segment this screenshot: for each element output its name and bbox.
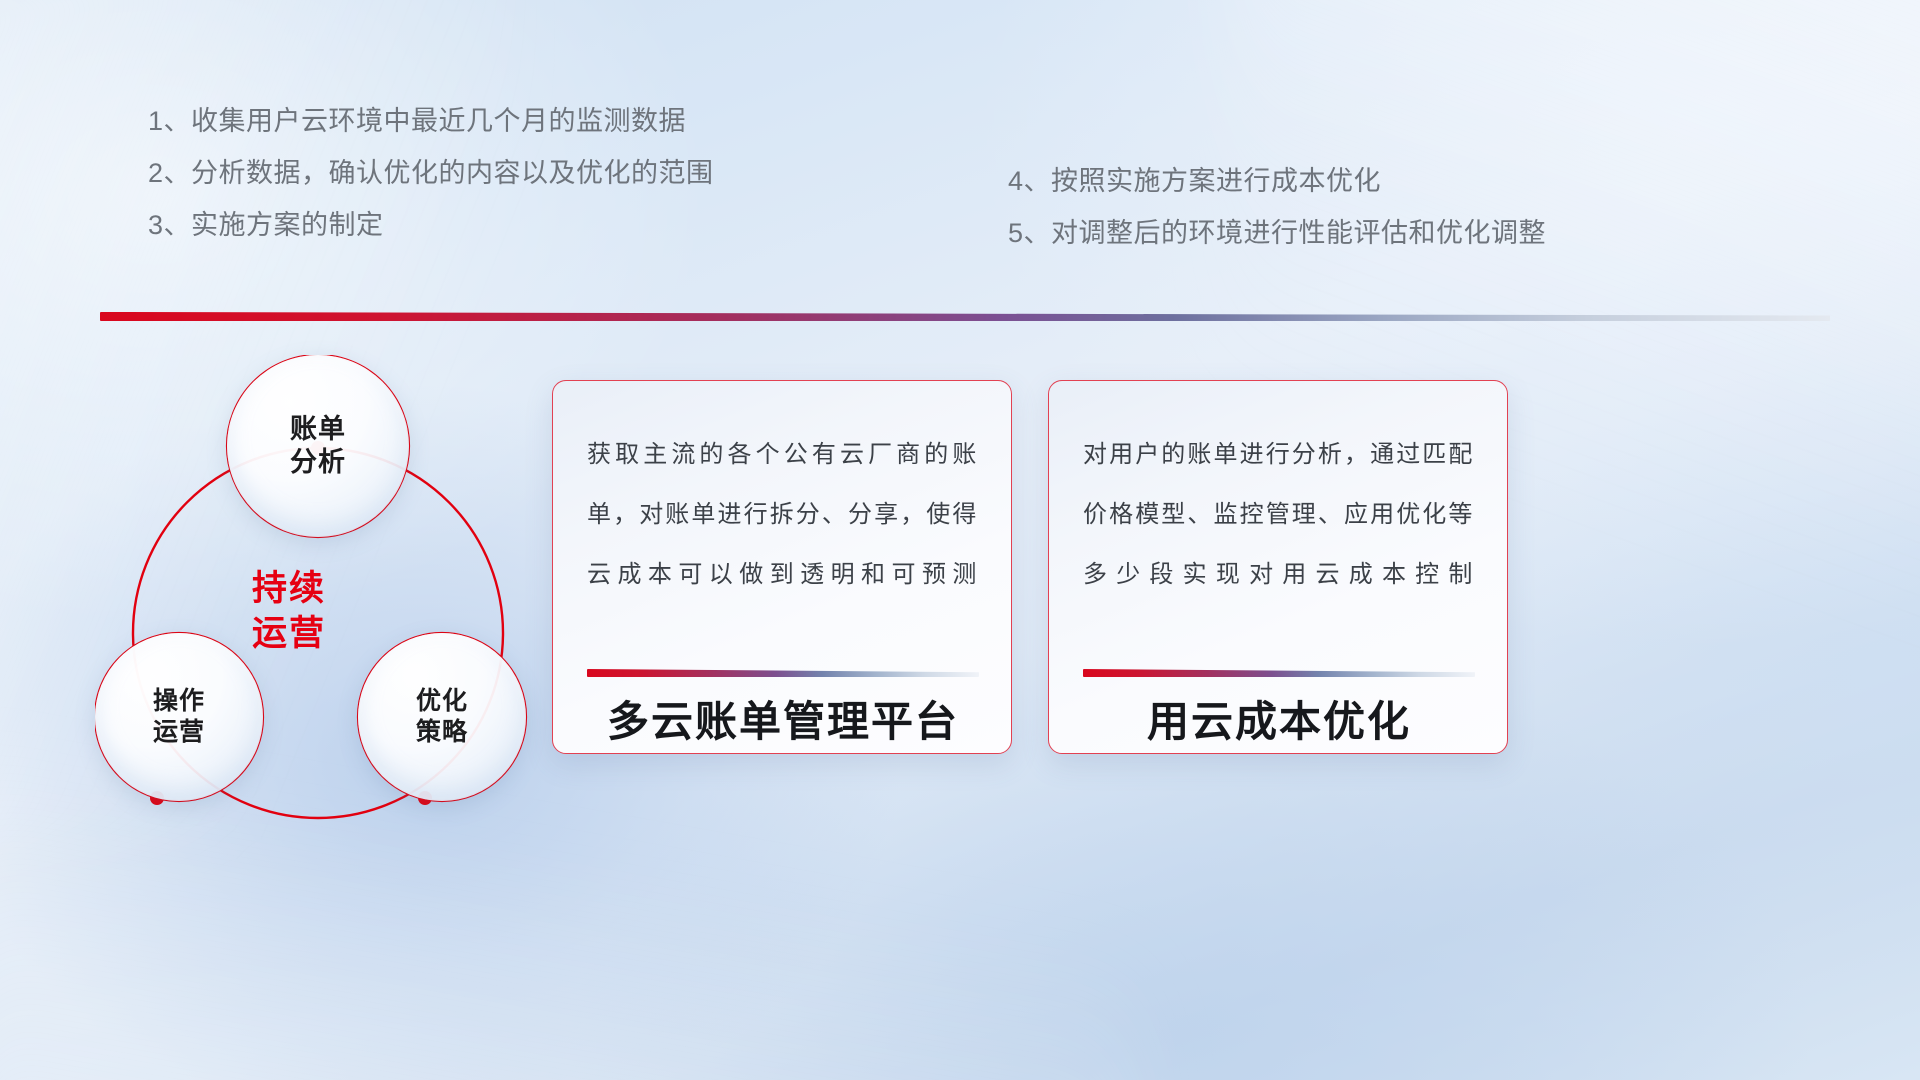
diagram-node-bill-analysis[interactable]: 账单 分析 (227, 355, 409, 537)
card-cloud-cost-optimization-title: 用云成本优化 (1083, 697, 1475, 747)
step-item-3: 3、实施方案的制定 (148, 199, 714, 251)
header-divider-bar (100, 312, 1830, 321)
step-item-5: 5、对调整后的环境进行性能评估和优化调整 (1008, 207, 1546, 259)
card-multi-cloud-billing-divider (587, 669, 979, 677)
step-item-2: 2、分析数据，确认优化的内容以及优化的范围 (148, 147, 714, 199)
header-divider (100, 312, 1830, 321)
card-multi-cloud-billing-title: 多云账单管理平台 (587, 697, 979, 747)
card-multi-cloud-billing-body: 获取主流的各个公有云厂商的账单，对账单进行拆分、分享，使得云成本可以做到透明和可… (587, 425, 977, 611)
diagram-node-strategy-line2: 策略 (416, 717, 468, 748)
diagram-center-label: 持续 运营 (252, 567, 502, 657)
diagram-node-operations[interactable]: 操作 运营 (95, 633, 263, 801)
slide-canvas: 1、收集用户云环境中最近几个月的监测数据 2、分析数据，确认优化的内容以及优化的… (0, 0, 1920, 1080)
diagram-node-operations-line1: 操作 (153, 686, 205, 717)
steps-list-right: 4、按照实施方案进行成本优化 5、对调整后的环境进行性能评估和优化调整 (1008, 155, 1546, 259)
diagram-node-strategy-line1: 优化 (416, 686, 468, 717)
card-cloud-cost-optimization-divider (1083, 669, 1475, 677)
step-item-4: 4、按照实施方案进行成本优化 (1008, 155, 1546, 207)
diagram-node-operations-line2: 运营 (153, 717, 205, 748)
diagram-node-bill-analysis-line1: 账单 (290, 413, 346, 446)
card-multi-cloud-billing[interactable]: 获取主流的各个公有云厂商的账单，对账单进行拆分、分享，使得云成本可以做到透明和可… (552, 380, 1012, 754)
diagram-node-strategy[interactable]: 优化 策略 (358, 633, 526, 801)
diagram-center-label-line2: 运营 (252, 612, 502, 657)
continuous-operation-diagram: 账单 分析 操作 运营 优化 策略 持续 运营 (95, 355, 615, 915)
card-cloud-cost-optimization[interactable]: 对用户的账单进行分析，通过匹配价格模型、监控管理、应用优化等多少段实现对用云成本… (1048, 380, 1508, 754)
steps-list-left: 1、收集用户云环境中最近几个月的监测数据 2、分析数据，确认优化的内容以及优化的… (148, 95, 714, 251)
step-item-1: 1、收集用户云环境中最近几个月的监测数据 (148, 95, 714, 147)
card-cloud-cost-optimization-body: 对用户的账单进行分析，通过匹配价格模型、监控管理、应用优化等多少段实现对用云成本… (1083, 425, 1473, 611)
diagram-center-label-line1: 持续 (252, 567, 502, 612)
diagram-node-bill-analysis-line2: 分析 (290, 446, 346, 479)
